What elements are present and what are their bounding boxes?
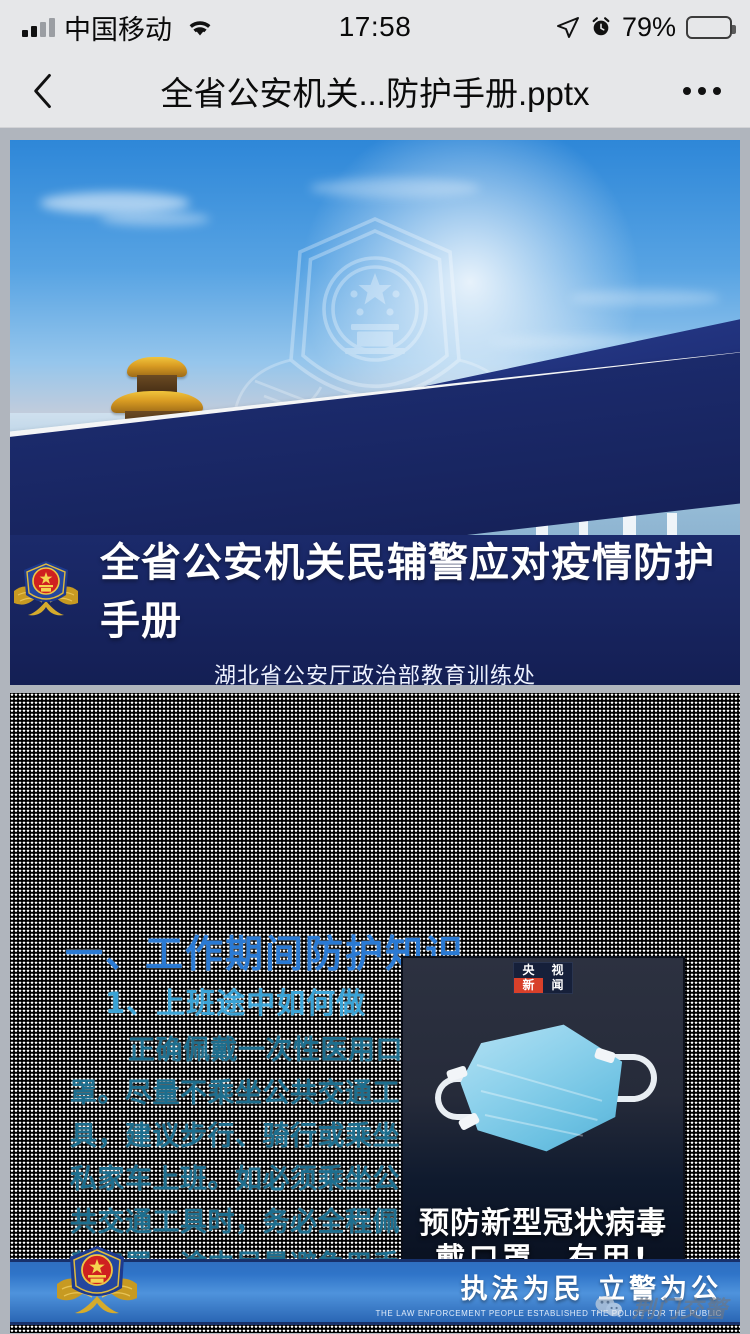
slide1-subtitle-text: 湖北省公安厅政治部教育训练处 bbox=[214, 658, 536, 685]
cctv-logo-char-4: 闻 bbox=[543, 978, 572, 993]
more-dots-icon bbox=[683, 87, 721, 95]
battery-icon bbox=[686, 16, 732, 39]
more-options-button[interactable] bbox=[654, 87, 750, 95]
page-title: 全省公安机关...防护手册.pptx bbox=[120, 67, 630, 115]
slide-1[interactable]: 全省公安机关民辅警应对疫情防护手册 湖北省公安厅政治部教育训练处 bbox=[10, 140, 740, 685]
status-bar: 中国移动 17:58 79% bbox=[0, 0, 750, 54]
police-badge-icon bbox=[52, 1242, 142, 1318]
slide1-title-text: 全省公安机关民辅警应对疫情防护手册 bbox=[100, 530, 740, 646]
cctv-logo-char-3: 新 bbox=[514, 978, 543, 993]
back-button[interactable] bbox=[0, 72, 86, 110]
slide-2[interactable]: 一、工作期间防护知识 1、上班途中如何做 正确佩戴一次性医用口罩。尽量不乘坐公共… bbox=[10, 693, 740, 1333]
cctv-logo-char-2: 视 bbox=[543, 963, 572, 978]
nav-bar: 全省公安机关...防护手册.pptx bbox=[0, 54, 750, 128]
wechat-logo-icon bbox=[594, 1294, 624, 1320]
surgical-mask-illustration bbox=[429, 1006, 659, 1176]
cctv-logo-char-1: 央 bbox=[514, 963, 543, 978]
watermark-text: 荆门交警 bbox=[632, 1290, 728, 1324]
slide1-title-block: 全省公安机关民辅警应对疫情防护手册 湖北省公安厅政治部教育训练处 bbox=[10, 535, 740, 685]
document-viewer[interactable]: 全省公安机关民辅警应对疫情防护手册 湖北省公安厅政治部教育训练处 一、工作期间防… bbox=[0, 128, 750, 1334]
police-badge-icon bbox=[10, 557, 82, 619]
chevron-left-icon bbox=[32, 72, 54, 110]
status-bar-clock: 17:58 bbox=[0, 11, 750, 43]
page-watermark: 荆门交警 bbox=[594, 1290, 728, 1324]
cctv-news-logo-icon: 央 视 新 闻 bbox=[513, 962, 573, 994]
